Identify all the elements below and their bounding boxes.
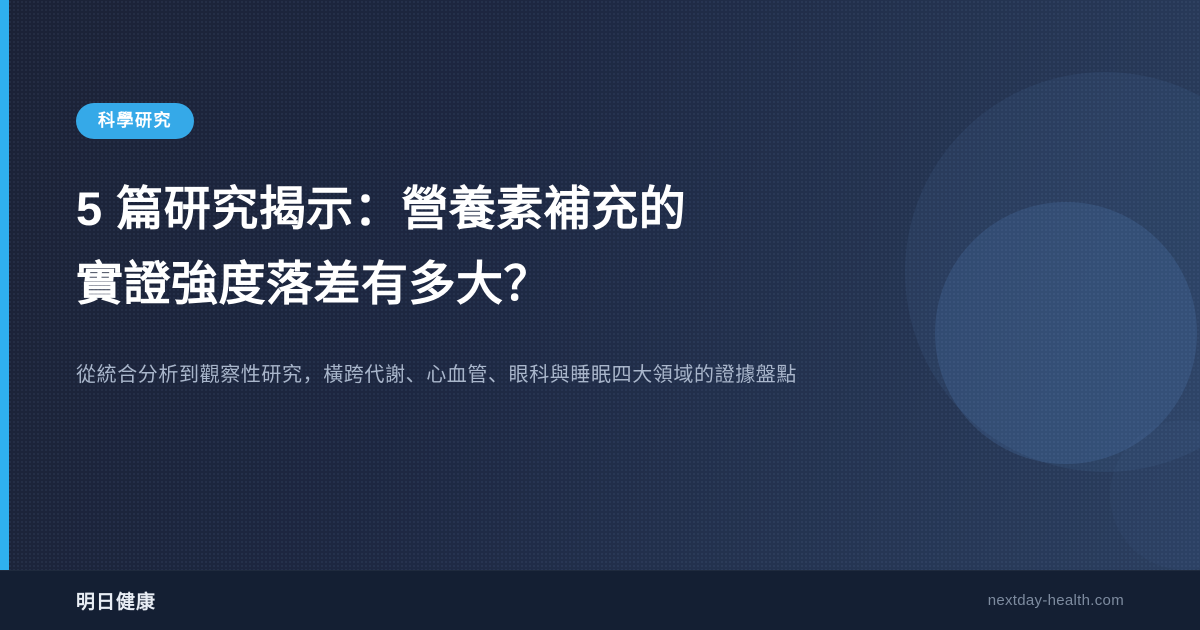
page-title: 5 篇研究揭示：營養素補充的 實證強度落差有多大？ <box>76 171 876 321</box>
og-share-card: 科學研究 5 篇研究揭示：營養素補充的 實證強度落差有多大？ 從統合分析到觀察性… <box>0 0 1200 630</box>
category-badge[interactable]: 科學研究 <box>76 103 194 139</box>
card-footer: 明日健康 nextday-health.com <box>0 570 1200 630</box>
footer-site-url: nextday-health.com <box>988 592 1124 609</box>
page-subtitle: 從統合分析到觀察性研究，橫跨代謝、心血管、眼科與睡眠四大領域的證據盤點 <box>76 359 1036 391</box>
page-title-line-2: 實證強度落差有多大？ <box>76 246 876 321</box>
card-content: 科學研究 5 篇研究揭示：營養素補充的 實證強度落差有多大？ 從統合分析到觀察性… <box>76 0 1036 391</box>
left-accent-bar <box>0 0 9 570</box>
footer-brand-name: 明日健康 <box>76 587 156 614</box>
page-title-line-1: 5 篇研究揭示：營養素補充的 <box>76 171 876 246</box>
